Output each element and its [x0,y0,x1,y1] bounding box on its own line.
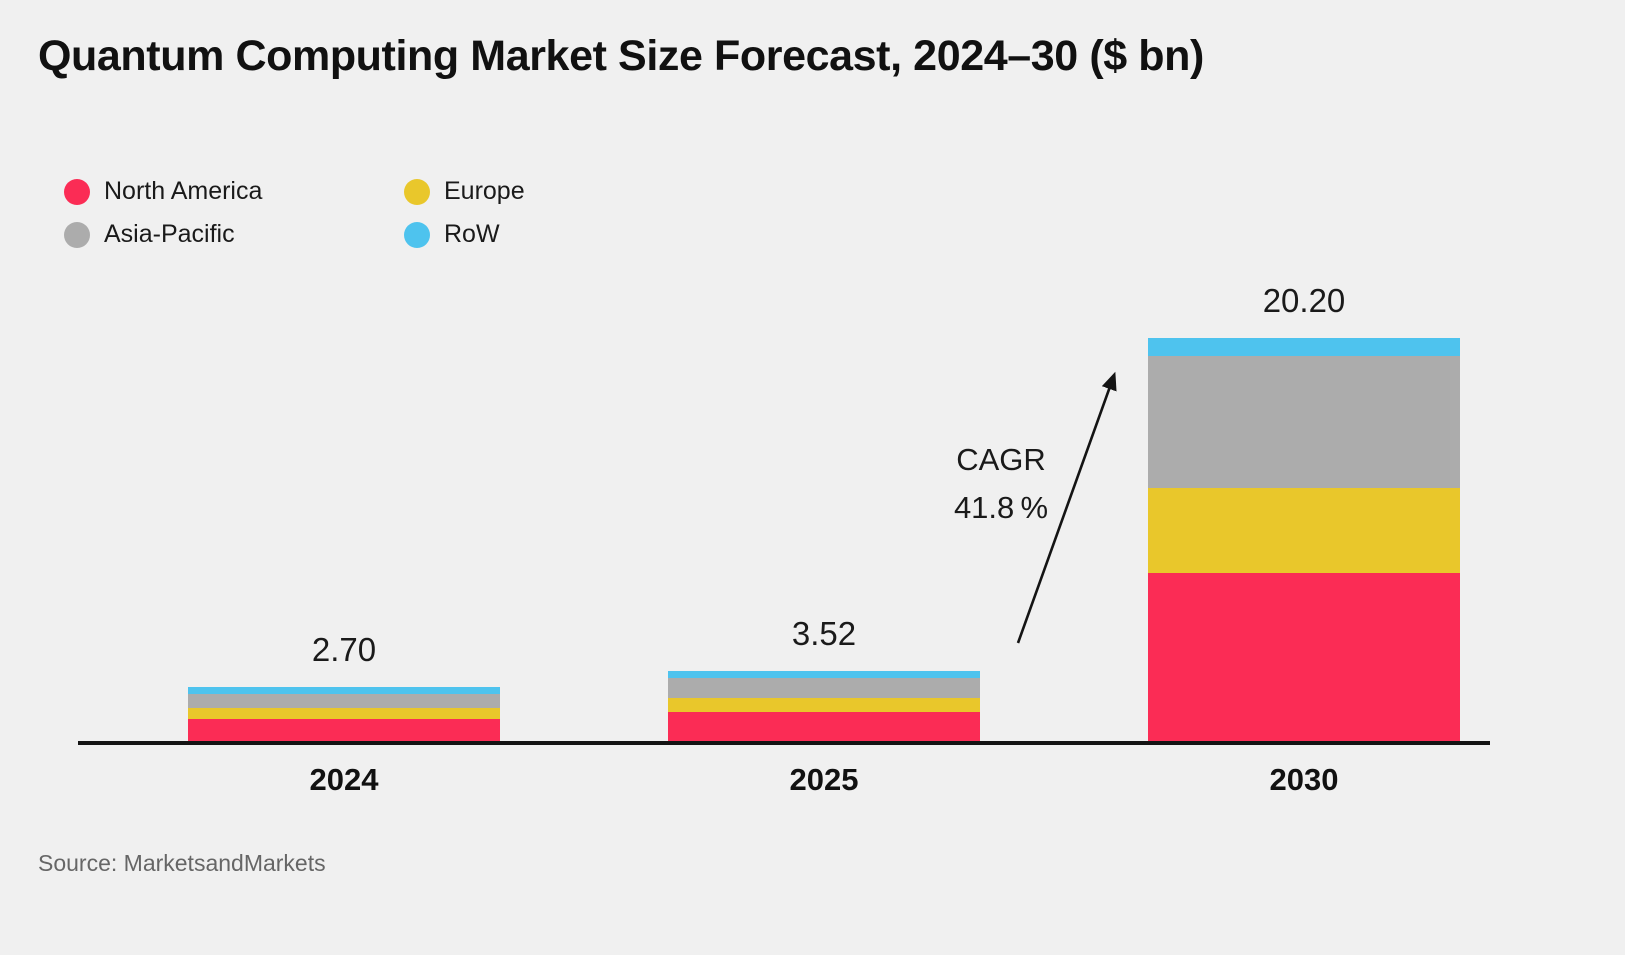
bar-segment-row-2025[interactable] [668,671,980,678]
bar-total-label-2024: 2.70 [188,631,500,669]
bar-total-label-2025: 3.52 [668,615,980,653]
cagr-annotation: CAGR 41.8 % [926,436,1076,532]
x-tick-label-2025: 2025 [668,762,980,798]
plot-area: 2.703.5220.20 2024 2025 2030 CAGR 41.8 % [0,0,1625,955]
x-axis-line [78,741,1490,745]
bar-segment-europe-2030[interactable] [1148,488,1460,574]
bar-segment-europe-2025[interactable] [668,698,980,712]
x-tick-label-2024: 2024 [188,762,500,798]
bar-segment-asia-pacific-2025[interactable] [668,678,980,698]
bar-segment-row-2030[interactable] [1148,338,1460,356]
bar-total-label-2030: 20.20 [1148,282,1460,320]
bar-segment-north-america-2030[interactable] [1148,573,1460,741]
bar-segment-north-america-2025[interactable] [668,712,980,741]
x-tick-label-2030: 2030 [1148,762,1460,798]
source-note: Source: MarketsandMarkets [38,850,326,877]
bar-2030[interactable] [1148,338,1460,741]
bar-segment-europe-2024[interactable] [188,708,500,719]
bar-2024[interactable] [188,687,500,741]
bar-segment-north-america-2024[interactable] [188,719,500,741]
bar-segment-row-2024[interactable] [188,687,500,694]
bar-segment-asia-pacific-2030[interactable] [1148,356,1460,488]
chart-container: Quantum Computing Market Size Forecast, … [0,0,1625,955]
cagr-value: 41.8 % [926,484,1076,532]
bar-2025[interactable] [668,671,980,741]
bar-segment-asia-pacific-2024[interactable] [188,694,500,708]
cagr-label: CAGR [926,436,1076,484]
